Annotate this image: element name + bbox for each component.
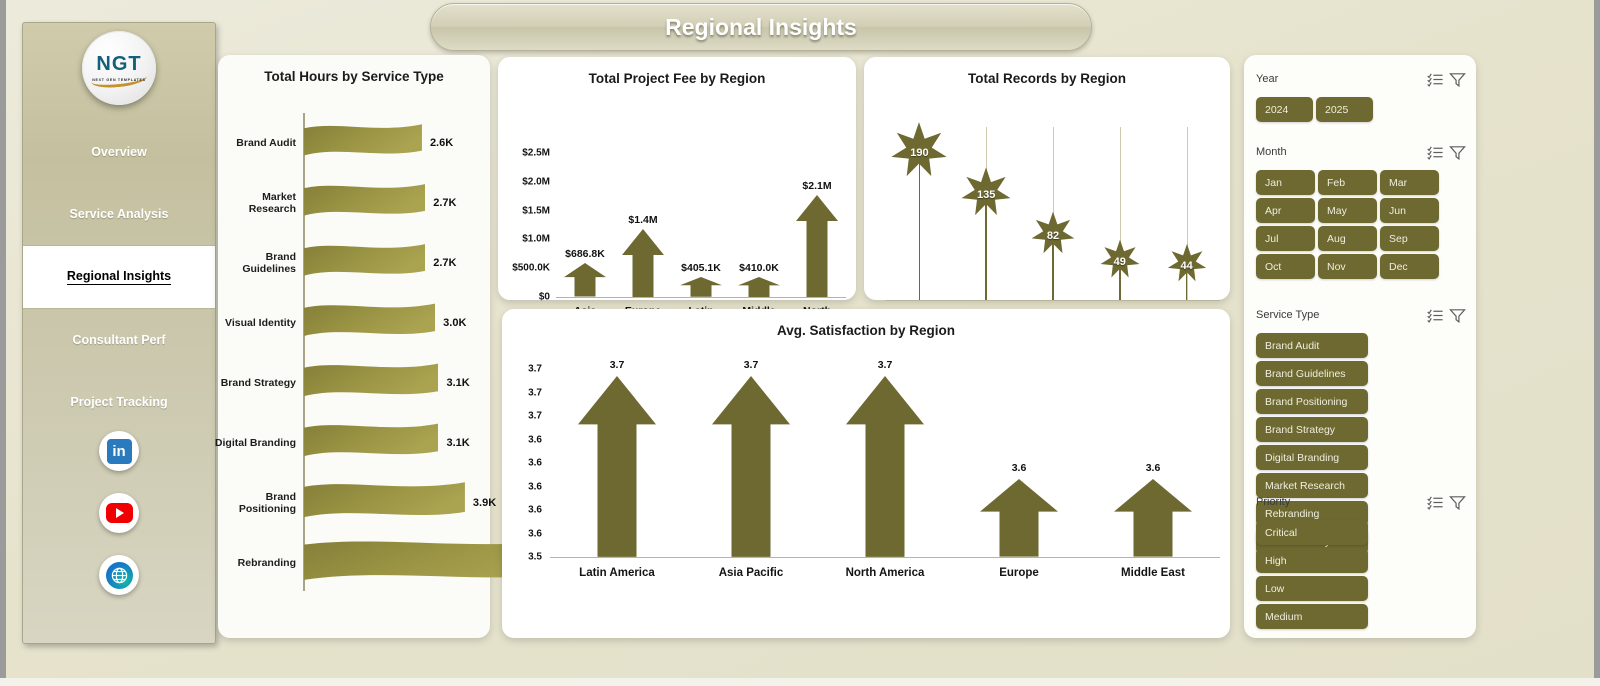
slicer-option-brand-strategy[interactable]: Brand Strategy [1256,417,1368,442]
hours-category-label: Brand Guidelines [214,251,296,275]
slicer-option-high[interactable]: High [1256,548,1368,573]
hours-flag-bar[interactable] [304,423,438,463]
sidebar-nav: OverviewService AnalysisRegional Insight… [23,121,215,433]
slicer-option-digital-branding[interactable]: Digital Branding [1256,445,1368,470]
slicer-year: Year20242025 [1256,69,1466,122]
total-records-plot: 190North America135Europe82Asia Pacific4… [864,57,1230,300]
sidebar-item-label: Service Analysis [70,207,169,221]
slicer-option-feb[interactable]: Feb [1318,170,1377,195]
hours-flag-bar[interactable] [304,482,465,525]
satisfaction-value-label: 3.6 [1146,462,1161,474]
hours-value-label: 3.1K [446,437,469,449]
slicer-option-brand-positioning[interactable]: Brand Positioning [1256,389,1368,414]
window-frame-right [1594,0,1600,686]
slicer-option-nov[interactable]: Nov [1318,254,1377,279]
table-row: Market Research2.7K [218,173,490,233]
satisfaction-value-label: 3.7 [610,359,625,371]
y-axis-tick: $1.5M [522,205,550,216]
x-axis-category-label: Europe [952,567,1086,580]
records-value-label: 135 [977,189,995,201]
brand-logo: NGT NEXT GEN TEMPLATES [82,31,156,105]
logo-subtitle: NEXT GEN TEMPLATES [92,78,145,82]
y-axis-tick: $2.5M [522,148,550,159]
hours-bar-list: Brand Audit2.6KMarket Research2.7KBrand … [218,113,490,593]
chart-card-project-fee: Total Project Fee by Region $0$500.0K$1.… [498,57,856,300]
hours-value-label: 2.7K [433,257,456,269]
records-value-label: 44 [1180,260,1192,272]
y-axis-tick: 3.6 [528,481,542,492]
slicer-priority: PriorityCriticalHighLowMedium [1256,492,1466,629]
slicer-option-jun[interactable]: Jun [1380,198,1439,223]
hours-flag-bar[interactable] [304,124,422,163]
sidebar-item-label: Project Tracking [70,395,167,409]
records-value-label: 190 [910,147,928,159]
chart-card-total-records: Total Records by Region 190North America… [864,57,1230,300]
sidebar-item-overview[interactable]: Overview [23,121,215,183]
slicer-options: CriticalHighLowMedium [1256,520,1466,629]
y-axis-tick: 3.6 [528,434,542,445]
slicer-option-medium[interactable]: Medium [1256,604,1368,629]
window-frame-bottom [0,678,1600,686]
hours-flag-bar[interactable] [304,243,425,282]
sidebar-item-consultant-perf[interactable]: Consultant Perf [23,309,215,371]
page-title: Regional Insights [665,14,857,41]
dashboard-page: NGT NEXT GEN TEMPLATES OverviewService A… [0,0,1600,686]
filter-panel: Year20242025MonthJanFebMarAprMayJunJulAu… [1244,55,1476,638]
table-row: Visual Identity3.0K [218,293,490,353]
hours-flag-bar[interactable] [304,303,435,343]
x-axis-category-label: Asia Pacific [684,567,818,580]
page-header-banner: Regional Insights [430,3,1092,51]
x-axis-category-label: North America [818,567,952,580]
hours-flag-bar[interactable] [304,363,438,403]
report-canvas: NGT NEXT GEN TEMPLATES OverviewService A… [6,0,1594,678]
y-axis-tick: $2.0M [522,176,550,187]
hours-category-label: Rebranding [214,557,296,569]
fee-value-label: $2.1M [802,180,831,192]
slicer-option-brand-audit[interactable]: Brand Audit [1256,333,1368,358]
x-axis-line [886,300,1220,301]
slicer-option-low[interactable]: Low [1256,576,1368,601]
slicer-option-may[interactable]: May [1318,198,1377,223]
satisfaction-arrow-bar[interactable] [712,376,790,562]
satisfaction-arrow-bar[interactable] [980,479,1058,562]
sidebar-item-label: Regional Insights [67,269,171,285]
multi-select-icon[interactable] [1427,494,1444,511]
clear-filter-icon[interactable] [1449,494,1466,511]
slicer-option-critical[interactable]: Critical [1256,520,1368,545]
slicer-title: Priority [1256,496,1422,508]
slicer-option-apr[interactable]: Apr [1256,198,1315,223]
table-row: Rebranding7.2K [218,533,490,593]
avg-satisfaction-plot: 3.73.73.73.63.63.63.63.63.53.7Latin Amer… [502,309,1230,638]
table-row: Digital Branding3.1K [218,413,490,473]
y-axis-tick: $1.0M [522,234,550,245]
satisfaction-value-label: 3.7 [878,359,893,371]
slicer-option-brand-guidelines[interactable]: Brand Guidelines [1256,361,1368,386]
slicer-option-2024[interactable]: 2024 [1256,97,1313,122]
x-axis-category-label: Latin America [550,567,684,580]
table-row: Brand Positioning3.9K [218,473,490,533]
slicer-option-dec[interactable]: Dec [1380,254,1439,279]
sidebar-item-label: Overview [91,145,147,159]
slicer-header: Year [1256,69,1466,89]
sidebar: NGT NEXT GEN TEMPLATES OverviewService A… [22,22,216,644]
hours-value-label: 3.9K [473,497,496,509]
website-icon [106,562,133,589]
satisfaction-arrow-bar[interactable] [578,376,656,562]
hours-category-label: Digital Branding [214,437,296,449]
slicer-option-oct[interactable]: Oct [1256,254,1315,279]
satisfaction-value-label: 3.6 [1012,462,1027,474]
y-axis-tick: $500.0K [512,263,550,274]
hours-value-label: 3.0K [443,317,466,329]
linkedin-icon: in [107,439,132,464]
hours-flag-bar[interactable] [304,183,425,222]
sidebar-item-label: Consultant Perf [72,333,165,347]
table-row: Brand Guidelines2.7K [218,233,490,293]
fee-value-label: $405.1K [681,262,721,274]
fee-value-label: $1.4M [628,214,657,226]
fee-arrow-bar[interactable] [680,277,722,302]
chart-card-avg-satisfaction: Avg. Satisfaction by Region 3.73.73.73.6… [502,309,1230,638]
slicer-option-2025[interactable]: 2025 [1316,97,1373,122]
multi-select-icon[interactable] [1427,71,1444,88]
fee-value-label: $410.0K [739,262,779,274]
social-links: in [23,431,215,617]
slicer-option-jul[interactable]: Jul [1256,226,1315,251]
y-axis-tick: 3.6 [528,505,542,516]
project-fee-plot: $0$500.0K$1.0M$1.5M$2.0M$2.5M$686.8KAsia… [498,57,856,300]
slicer-header: Service Type [1256,305,1466,325]
logo-text: NGT [96,54,141,74]
hours-category-label: Brand Audit [214,137,296,149]
hours-value-label: 3.1K [446,377,469,389]
slicer-options: JanFebMarAprMayJunJulAugSepOctNovDec [1256,170,1466,279]
fee-arrow-bar[interactable] [622,229,664,302]
chart-title-total-hours: Total Hours by Service Type [218,69,490,84]
slicer-month: MonthJanFebMarAprMayJunJulAugSepOctNovDe… [1256,142,1466,279]
y-axis-tick: 3.7 [528,364,542,375]
hours-value-label: 2.7K [433,197,456,209]
slicer-title: Month [1256,146,1422,158]
hours-category-label: Visual Identity [214,317,296,329]
slicer-header: Month [1256,142,1466,162]
fee-value-label: $686.8K [565,248,605,260]
slicer-title: Service Type [1256,309,1422,321]
multi-select-icon[interactable] [1427,307,1444,324]
x-axis-category-label: Middle East [1086,567,1220,580]
sidebar-item-regional-insights[interactable]: Regional Insights [23,245,215,309]
sidebar-item-service-analysis[interactable]: Service Analysis [23,183,215,245]
hours-category-label: Market Research [214,191,296,215]
hours-value-label: 2.6K [430,137,453,149]
slicer-options: 20242025 [1256,97,1466,122]
slicer-option-sep[interactable]: Sep [1380,226,1439,251]
chart-card-total-hours: Total Hours by Service Type Brand Audit2… [218,55,490,638]
youtube-icon [106,503,133,523]
slicer-option-mar[interactable]: Mar [1380,170,1439,195]
fee-arrow-bar[interactable] [738,277,780,302]
clear-filter-icon[interactable] [1449,307,1466,324]
table-row: Brand Strategy3.1K [218,353,490,413]
multi-select-icon[interactable] [1427,144,1444,161]
satisfaction-value-label: 3.7 [744,359,759,371]
fee-arrow-bar[interactable] [796,195,838,302]
linkedin-button[interactable]: in [99,431,139,471]
sidebar-item-project-tracking[interactable]: Project Tracking [23,371,215,433]
slicer-option-jan[interactable]: Jan [1256,170,1315,195]
slicer-option-aug[interactable]: Aug [1318,226,1377,251]
fee-arrow-bar[interactable] [564,263,606,302]
y-axis-tick: $0 [539,292,550,303]
records-value-label: 49 [1114,256,1126,268]
y-axis-tick: 3.7 [528,411,542,422]
y-axis-tick: 3.6 [528,528,542,539]
clear-filter-icon[interactable] [1449,144,1466,161]
records-value-label: 82 [1047,230,1059,242]
hours-category-label: Brand Strategy [214,377,296,389]
hours-category-label: Brand Positioning [214,491,296,515]
y-axis-tick: 3.6 [528,458,542,469]
y-axis-tick: 3.5 [528,552,542,563]
table-row: Brand Audit2.6K [218,113,490,173]
youtube-button[interactable] [99,493,139,533]
satisfaction-arrow-bar[interactable] [846,376,924,562]
y-axis-tick: 3.7 [528,387,542,398]
slicer-title: Year [1256,73,1422,85]
satisfaction-arrow-bar[interactable] [1114,479,1192,562]
clear-filter-icon[interactable] [1449,71,1466,88]
website-button[interactable] [99,555,139,595]
slicer-header: Priority [1256,492,1466,512]
